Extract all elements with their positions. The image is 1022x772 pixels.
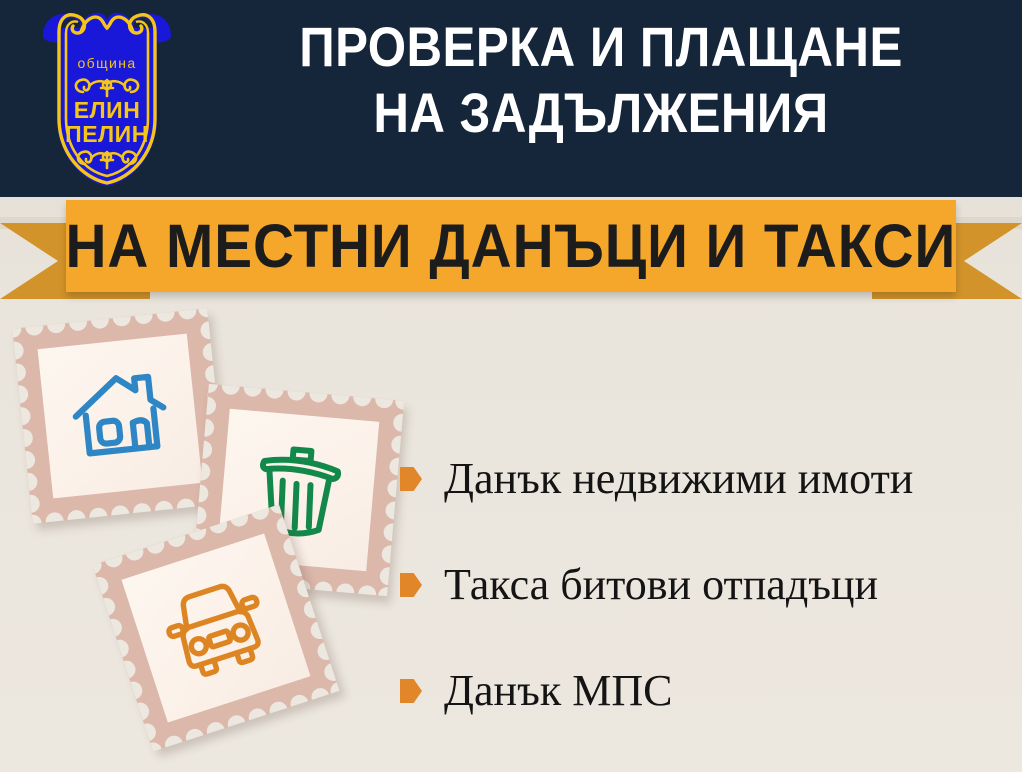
coat-of-arms-icon: община ЕЛИН ПЕЛИН	[33, 6, 181, 192]
page-title-line-1: ПРОВЕРКА И ПЛАЩАНЕ	[245, 14, 958, 80]
logo-name-line1: ЕЛИН	[74, 97, 141, 123]
municipality-logo: община ЕЛИН ПЕЛИН	[33, 6, 181, 192]
arrow-bullet-icon	[400, 573, 422, 597]
stamp-inner-panel	[121, 533, 310, 722]
tax-types-list: Данък недвижими имоти Такса битови отпад…	[400, 426, 1010, 744]
page-title-line-2: НА ЗАДЪЛЖЕНИЯ	[245, 80, 958, 146]
stamp-card-property	[12, 308, 227, 523]
list-item[interactable]: Данък МПС	[400, 638, 1010, 744]
logo-obshtina-text: община	[77, 55, 136, 71]
page-title: ПРОВЕРКА И ПЛАЩАНЕ НА ЗАДЪЛЖЕНИЯ	[245, 14, 958, 146]
ribbon-label: НА МЕСТНИ ДАНЪЦИ И ТАКСИ	[66, 216, 957, 277]
list-item[interactable]: Данък недвижими имоти	[400, 426, 1010, 532]
arrow-bullet-icon	[400, 467, 422, 491]
house-icon	[63, 359, 177, 473]
list-item-label: Данък МПС	[444, 669, 672, 713]
logo-name-line2: ПЕЛИН	[65, 121, 149, 147]
stamp-inner-panel	[38, 334, 203, 499]
list-item-label: Данък недвижими имоти	[444, 457, 913, 501]
ribbon-band: НА МЕСТНИ ДАНЪЦИ И ТАКСИ	[66, 200, 956, 292]
list-item-label: Такса битови отпадъци	[444, 563, 878, 607]
list-item[interactable]: Такса битови отпадъци	[400, 532, 1010, 638]
car-front-icon	[150, 562, 281, 693]
poster-canvas: община ЕЛИН ПЕЛИН ПРОВЕРКА	[0, 0, 1022, 772]
subtitle-ribbon: НА МЕСТНИ ДАНЪЦИ И ТАКСИ	[0, 197, 1022, 309]
arrow-bullet-icon	[400, 679, 422, 703]
